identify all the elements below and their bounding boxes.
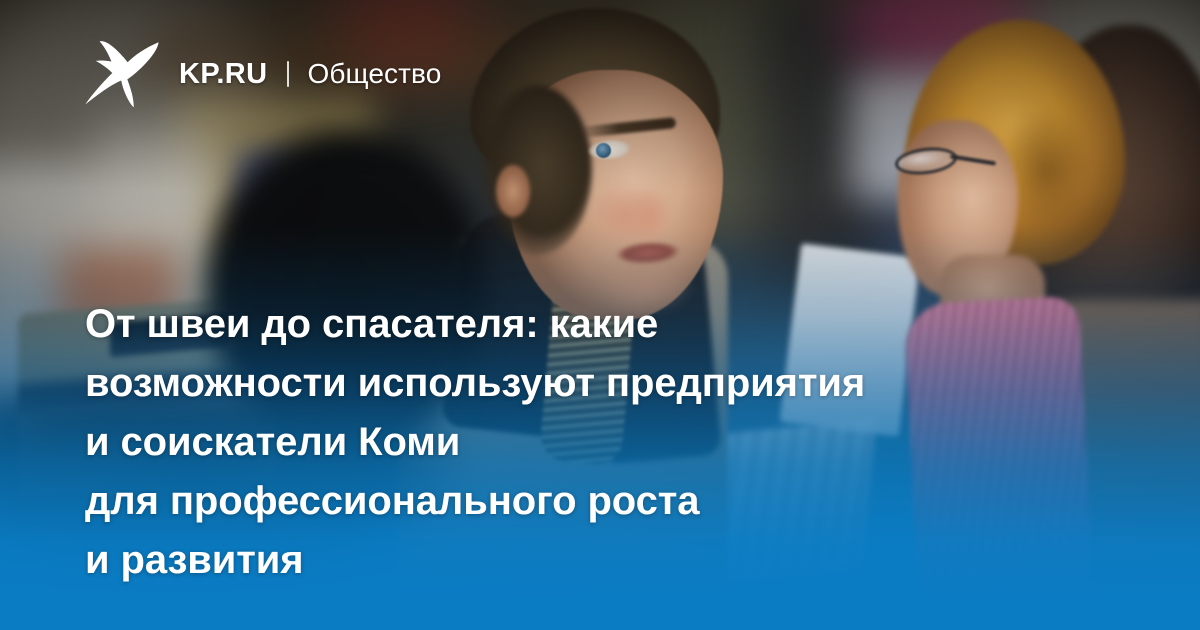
headline-line-2: возможности используют предприятия (85, 354, 1125, 413)
headline: От швеи до спасателя: какие возможности … (85, 295, 1125, 590)
section-label[interactable]: Общество (308, 60, 442, 88)
brand-separator (287, 61, 289, 87)
brand-name[interactable]: KP.RU (179, 60, 268, 89)
brand-bar[interactable]: KP.RU Общество (85, 41, 441, 107)
headline-line-5: и развития (85, 531, 1125, 590)
swallow-bird-icon (85, 41, 159, 107)
share-card: KP.RU Общество От швеи до спасателя: как… (0, 0, 1200, 630)
headline-line-1: От швеи до спасателя: какие (85, 295, 1125, 354)
headline-line-3: и соискатели Коми (85, 413, 1125, 472)
headline-line-4: для профессионального роста (85, 472, 1125, 531)
